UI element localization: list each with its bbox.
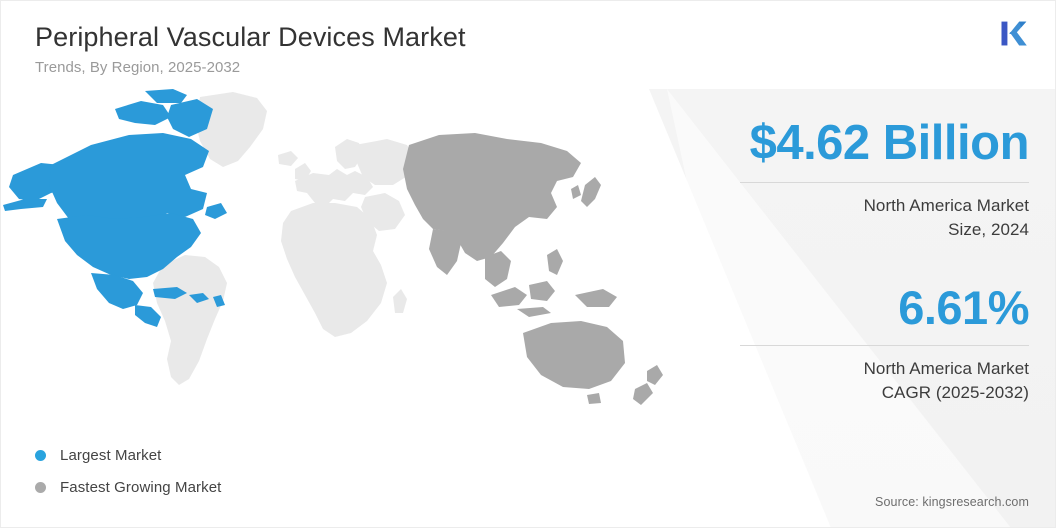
region-new-zealand: [647, 365, 663, 385]
infographic-root: Peripheral Vascular Devices Market Trend…: [0, 0, 1056, 528]
stat-value-cagr: 6.61%: [729, 284, 1029, 331]
k-logo-stem: [1002, 22, 1008, 46]
region-south-america: [153, 255, 227, 385]
legend-item-largest-market[interactable]: Largest Market: [35, 439, 221, 471]
stat-caption-cagr-line1: North America Market: [729, 357, 1029, 381]
legend-label-fastest-growing-market: Fastest Growing Market: [60, 479, 221, 496]
stat-spacer: [729, 242, 1029, 284]
source-label: Source: kingsresearch.com: [875, 495, 1029, 509]
stats-panel: $4.62 Billion North America Market Size,…: [729, 119, 1029, 406]
stat-caption-market-size-line2: Size, 2024: [729, 218, 1029, 242]
region-asia: [403, 133, 581, 261]
stat-block-market-size: $4.62 Billion North America Market Size,…: [729, 119, 1029, 242]
region-java: [517, 307, 551, 317]
region-indonesia-sumatra: [491, 287, 527, 307]
region-southeast-asia: [485, 251, 511, 287]
stat-caption-cagr: North America Market CAGR (2025-2032): [729, 357, 1029, 405]
region-africa: [281, 203, 387, 337]
legend-label-largest-market: Largest Market: [60, 447, 161, 464]
world-map[interactable]: [0, 89, 695, 434]
region-mexico: [91, 273, 143, 309]
stat-divider-1: [740, 182, 1029, 183]
map-legend: Largest Market Fastest Growing Market: [35, 439, 221, 503]
region-borneo: [529, 281, 555, 301]
stat-divider-2: [740, 345, 1029, 346]
map-region-fastest-growing: [403, 133, 663, 405]
region-new-guinea: [575, 289, 617, 307]
header: Peripheral Vascular Devices Market Trend…: [35, 21, 675, 76]
region-aleutians: [3, 199, 47, 211]
region-iceland: [278, 151, 298, 166]
region-australia: [523, 321, 625, 389]
region-japan: [581, 177, 601, 207]
legend-dot-grey-icon: [35, 482, 46, 493]
region-new-zealand-south: [633, 383, 653, 405]
kings-research-logo[interactable]: [991, 13, 1033, 55]
region-korea: [571, 185, 581, 199]
stat-value-market-size: $4.62 Billion: [729, 119, 1029, 168]
region-newfoundland: [205, 203, 227, 219]
legend-item-fastest-growing-market[interactable]: Fastest Growing Market: [35, 471, 221, 503]
region-tasmania: [587, 393, 601, 404]
k-logo-lower-arm: [1010, 32, 1027, 45]
world-map-svg: [0, 89, 695, 434]
legend-dot-blue-icon: [35, 450, 46, 461]
region-madagascar: [393, 289, 407, 313]
region-canadian-arctic: [115, 101, 171, 125]
page-subtitle: Trends, By Region, 2025-2032: [35, 59, 675, 76]
stat-caption-cagr-line2: CAGR (2025-2032): [729, 381, 1029, 405]
page-title: Peripheral Vascular Devices Market: [35, 21, 675, 53]
region-ellesmere: [145, 89, 187, 103]
stat-caption-market-size: North America Market Size, 2024: [729, 194, 1029, 242]
stat-caption-market-size-line1: North America Market: [729, 194, 1029, 218]
region-central-america: [135, 305, 161, 327]
stat-block-cagr: 6.61% North America Market CAGR (2025-20…: [729, 284, 1029, 405]
region-philippines: [547, 249, 563, 275]
k-logo-icon: [991, 13, 1033, 55]
